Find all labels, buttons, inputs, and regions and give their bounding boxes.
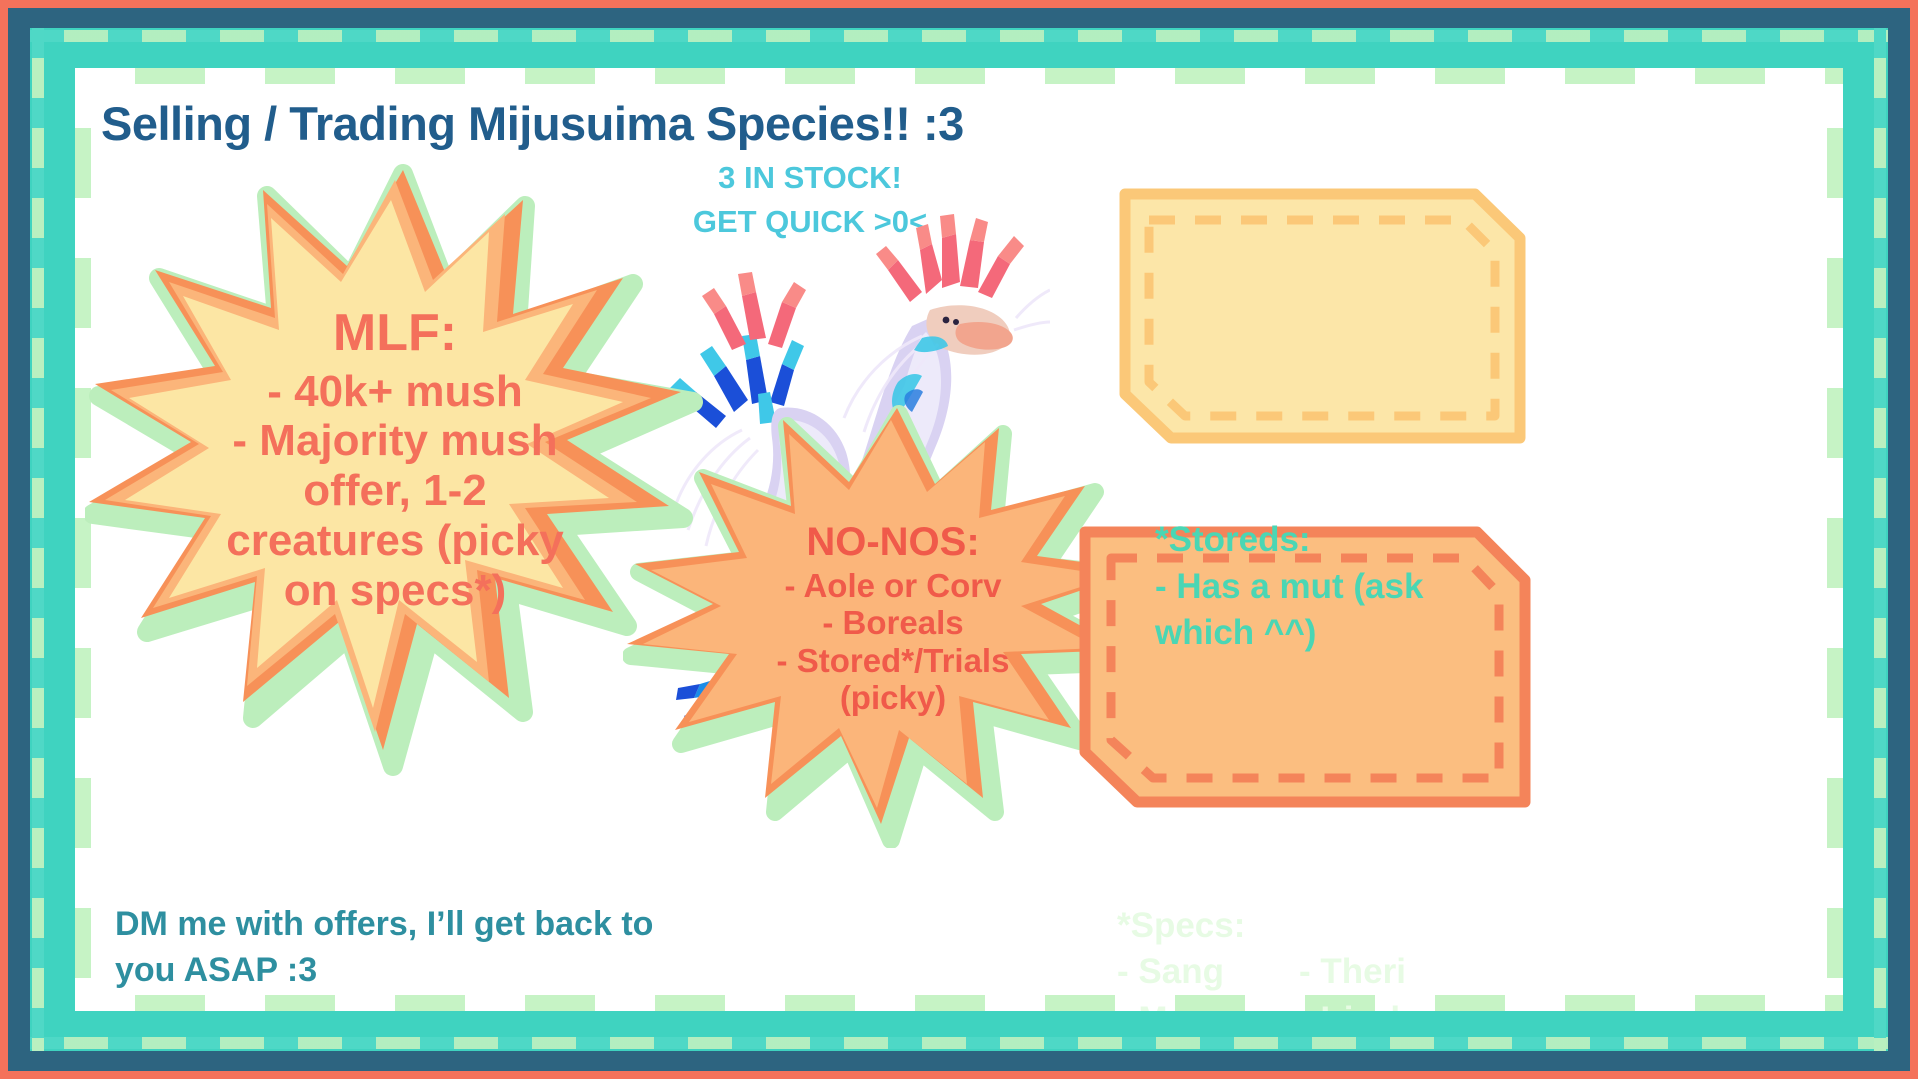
tag-shape-icon [1115,176,1530,468]
inner-dash-bottom-icon [75,995,1843,1011]
page-title: Selling / Trading Mijusuima Species!! :3 [101,96,964,151]
starburst-icon [85,156,705,786]
storeds-panel: *Storeds: - Has a mut (ask which ^^) [1115,176,1530,468]
frame-dash-bottom-icon [30,1037,1888,1049]
specs-row-0-right: - Theri [1299,949,1505,995]
mlf-starburst: MLF: - 40k+ mush - Majority mush offer, … [85,156,705,786]
contact-note: DM me with offers, I’ll get back to you … [115,902,675,994]
poster-inner-frame: Selling / Trading Mijusuima Species!! :3… [30,28,1888,1051]
frame-dash-top-icon [30,30,1888,42]
inner-dash-top-icon [75,68,1843,84]
inner-dash-right-icon [1827,68,1843,1011]
poster-outer-frame: Selling / Trading Mijusuima Species!! :3… [8,8,1910,1071]
specs-content: *Specs: - Sang - Theri - Morc - Irizah -… [1075,859,1535,1011]
frame-dash-right-icon [1874,28,1886,1051]
storeds-line-1: - Has a mut (ask [1155,564,1496,611]
storeds-content: *Storeds: - Has a mut (ask which ^^) [1115,473,1530,657]
specs-heading: *Specs: [1117,903,1505,949]
specs-row-1-right: - Irizah [1299,997,1505,1011]
frame-dash-left-icon [32,28,44,1051]
poster-content-area: Selling / Trading Mijusuima Species!! :3… [75,68,1843,1011]
storeds-line-2: which ^^) [1155,610,1496,657]
specs-row-0-left: - Sang [1117,949,1299,995]
specs-list: - Sang - Theri - Morc - Irizah - Vira - … [1117,949,1505,1011]
storeds-heading: *Storeds: [1155,517,1496,564]
poster-canvas: Selling / Trading Mijusuima Species!! :3… [0,0,1918,1079]
specs-row-1-left: - Morc [1117,997,1299,1011]
